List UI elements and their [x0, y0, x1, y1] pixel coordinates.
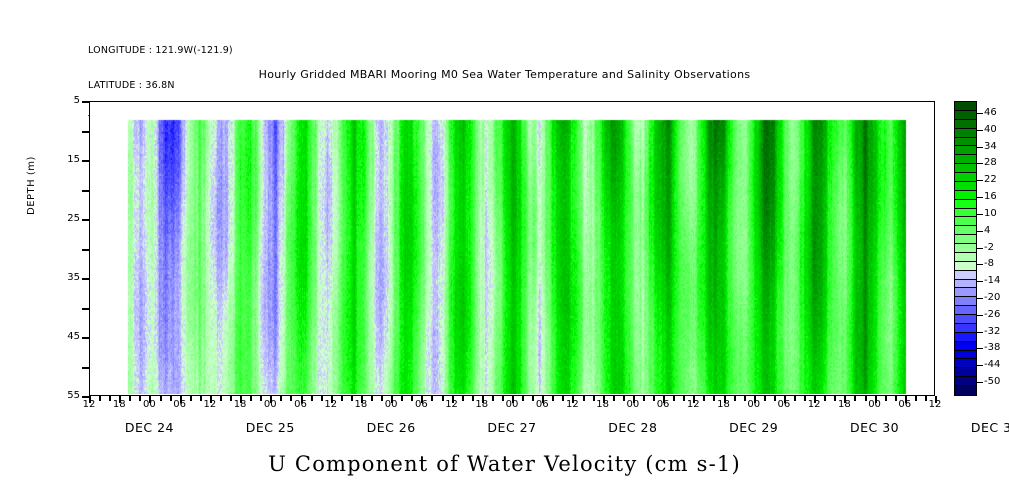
colorbar-band: [955, 155, 976, 164]
colorbar-band: [955, 200, 976, 209]
y-tick-minor: [82, 249, 89, 251]
colorbar-band: [955, 351, 976, 360]
colorbar-tick: [977, 315, 983, 316]
x-hour-label: 12: [920, 399, 950, 410]
y-tick-label: 25: [40, 213, 80, 224]
x-hour-label: 12: [557, 399, 587, 410]
latitude-label: LATITUDE : 36.8N: [88, 80, 233, 92]
x-hour-label: 12: [437, 399, 467, 410]
x-date-label: DEC 26: [346, 420, 436, 435]
colorbar-band: [955, 209, 976, 218]
x-date-label: DEC 24: [104, 420, 194, 435]
colorbar-band: [955, 386, 976, 395]
colorbar-band: [955, 173, 976, 182]
colorbar-tick: [977, 332, 983, 333]
colorbar-band: [955, 226, 976, 235]
colorbar-band: [955, 306, 976, 315]
colorbar-tick: [977, 264, 983, 265]
x-hour-label: 18: [346, 399, 376, 410]
colorbar-band: [955, 368, 976, 377]
x-hour-label: 00: [860, 399, 890, 410]
colorbar-tick: [977, 163, 983, 164]
colorbar-band: [955, 288, 976, 297]
colorbar-tick: [977, 365, 983, 366]
colorbar-band: [955, 129, 976, 138]
colorbar-label: 28: [984, 157, 997, 168]
colorbar-label: 34: [984, 141, 997, 152]
x-date-label: DEC 28: [588, 420, 678, 435]
colorbar-band: [955, 324, 976, 333]
colorbar-label: -14: [984, 275, 1000, 286]
x-date-label: DEC 29: [709, 420, 799, 435]
x-hour-label: 00: [255, 399, 285, 410]
velocity-field-canvas: [90, 102, 933, 394]
chart-title: Hourly Gridded MBARI Mooring M0 Sea Wate…: [0, 68, 1009, 81]
colorbar-tick: [977, 298, 983, 299]
colorbar-label: -38: [984, 342, 1000, 353]
colorbar-tick: [977, 281, 983, 282]
x-hour-label: 00: [497, 399, 527, 410]
colorbar-band: [955, 235, 976, 244]
colorbar-band: [955, 315, 976, 324]
x-hour-label: 00: [376, 399, 406, 410]
colorbar-tick: [977, 348, 983, 349]
colorbar-label: 40: [984, 124, 997, 135]
colorbar-band: [955, 146, 976, 155]
x-hour-label: 06: [406, 399, 436, 410]
x-hour-label: 18: [104, 399, 134, 410]
colorbar-tick: [977, 130, 983, 131]
colorbar-label: -50: [984, 376, 1000, 387]
colorbar-band: [955, 333, 976, 342]
colorbar-label: -44: [984, 359, 1000, 370]
y-tick-major: [82, 160, 89, 162]
colorbar-label: 46: [984, 107, 997, 118]
x-date-label: DEC 25: [225, 420, 315, 435]
colorbar-label: -8: [984, 258, 994, 269]
y-axis-title: DEPTH (m): [26, 156, 37, 215]
x-hour-label: 00: [134, 399, 164, 410]
colorbar-band: [955, 359, 976, 368]
x-date-label: DEC 30: [830, 420, 920, 435]
colorbar-band: [955, 120, 976, 129]
colorbar-band: [955, 253, 976, 262]
colorbar-tick: [977, 248, 983, 249]
colorbar-tick: [977, 382, 983, 383]
colorbar-band: [955, 102, 976, 111]
colorbar-legend: [954, 101, 977, 396]
x-hour-label: 06: [769, 399, 799, 410]
x-hour-label: 12: [678, 399, 708, 410]
colorbar-band: [955, 164, 976, 173]
colorbar-label: 22: [984, 174, 997, 185]
colorbar-label: -26: [984, 309, 1000, 320]
colorbar-band: [955, 297, 976, 306]
colorbar-band: [955, 280, 976, 289]
y-tick-label: 35: [40, 272, 80, 283]
colorbar-tick: [977, 231, 983, 232]
colorbar-band: [955, 217, 976, 226]
colorbar-tick: [977, 214, 983, 215]
colorbar-label: -32: [984, 326, 1000, 337]
x-hour-label: 18: [467, 399, 497, 410]
colorbar-band: [955, 244, 976, 253]
y-tick-major: [82, 278, 89, 280]
colorbar-tick: [977, 113, 983, 114]
colorbar-label: -20: [984, 292, 1000, 303]
colorbar-band: [955, 111, 976, 120]
colorbar-tick: [977, 197, 983, 198]
x-hour-label: 00: [739, 399, 769, 410]
y-tick-minor: [82, 190, 89, 192]
x-hour-label: 06: [165, 399, 195, 410]
colorbar-band: [955, 271, 976, 280]
x-hour-label: 06: [890, 399, 920, 410]
y-tick-minor: [82, 367, 89, 369]
x-hour-label: 12: [74, 399, 104, 410]
colorbar-band: [955, 342, 976, 351]
colorbar-band: [955, 138, 976, 147]
colorbar-band: [955, 191, 976, 200]
x-hour-label: 18: [709, 399, 739, 410]
colorbar-band: [955, 377, 976, 386]
y-tick-label: 45: [40, 331, 80, 342]
longitude-label: LONGITUDE : 121.9W(-121.9): [88, 45, 233, 57]
x-hour-label: 18: [829, 399, 859, 410]
y-tick-major: [82, 101, 89, 103]
x-hour-label: 12: [799, 399, 829, 410]
colorbar-label: 16: [984, 191, 997, 202]
y-tick-minor: [82, 131, 89, 133]
y-tick-major: [82, 396, 89, 398]
y-tick-major: [82, 337, 89, 339]
x-date-label: DEC 27: [467, 420, 557, 435]
x-date-label: DEC 31: [950, 420, 1009, 435]
x-hour-label: 06: [527, 399, 557, 410]
x-hour-label: 06: [286, 399, 316, 410]
x-hour-label: 18: [225, 399, 255, 410]
x-hour-label: 12: [316, 399, 346, 410]
figure-caption: U Component of Water Velocity (cm s-1): [0, 452, 1009, 476]
colorbar-label: -2: [984, 242, 994, 253]
heatmap-plot-area: [89, 101, 935, 396]
x-hour-label: 06: [648, 399, 678, 410]
x-hour-label: 00: [618, 399, 648, 410]
y-tick-label: 15: [40, 154, 80, 165]
colorbar-label: 4: [984, 225, 990, 236]
y-tick-major: [82, 219, 89, 221]
y-tick-minor: [82, 308, 89, 310]
colorbar-band: [955, 262, 976, 271]
colorbar-tick: [977, 180, 983, 181]
x-hour-label: 12: [195, 399, 225, 410]
colorbar-label: 10: [984, 208, 997, 219]
colorbar-tick: [977, 147, 983, 148]
x-hour-label: 18: [588, 399, 618, 410]
y-tick-label: 5: [40, 95, 80, 106]
colorbar-band: [955, 182, 976, 191]
